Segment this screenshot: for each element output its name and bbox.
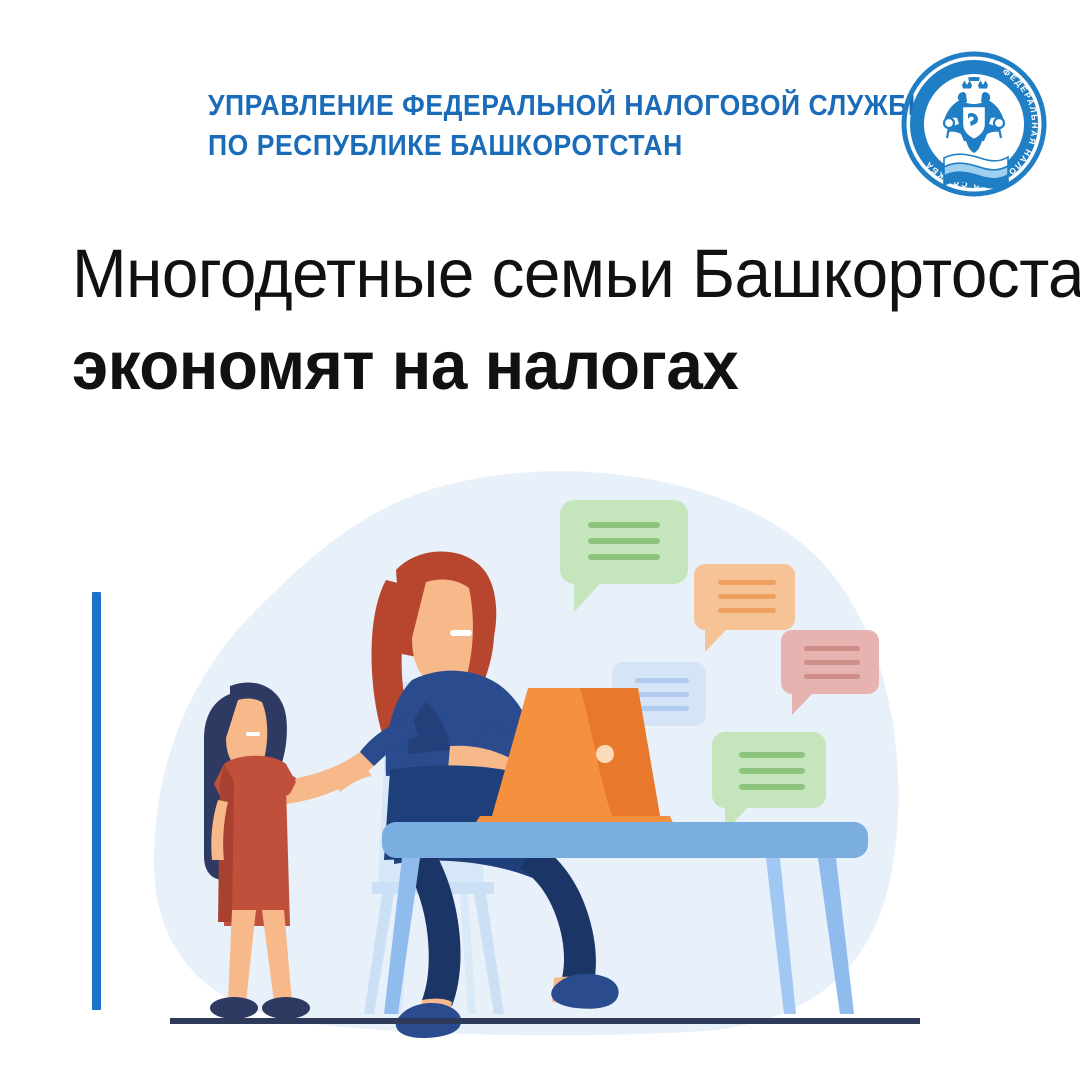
ground-line: [170, 1018, 920, 1024]
accent-bar: [92, 592, 101, 1010]
federal-tax-service-emblem-icon: ФЕДЕРАЛЬНАЯ НАЛОГОВАЯ СЛУЖБА: [898, 48, 1050, 200]
illustration-mother-working-with-daughter: [150, 470, 940, 1045]
organization-name-line-1: УПРАВЛЕНИЕ ФЕДЕРАЛЬНОЙ НАЛОГОВОЙ СЛУЖБЫ: [208, 86, 850, 126]
poster-canvas: УПРАВЛЕНИЕ ФЕДЕРАЛЬНОЙ НАЛОГОВОЙ СЛУЖБЫ …: [0, 0, 1080, 1080]
organization-header: УПРАВЛЕНИЕ ФЕДЕРАЛЬНОЙ НАЛОГОВОЙ СЛУЖБЫ …: [208, 86, 898, 166]
headline-line-2: экономят на налогах: [72, 320, 984, 412]
headline-line-1: Многодетные семьи Башкортостана: [72, 228, 984, 320]
headline: Многодетные семьи Башкортостана экономят…: [72, 228, 1032, 412]
organization-name-line-2: ПО РЕСПУБЛИКЕ БАШКОРОТСТАН: [208, 126, 850, 166]
